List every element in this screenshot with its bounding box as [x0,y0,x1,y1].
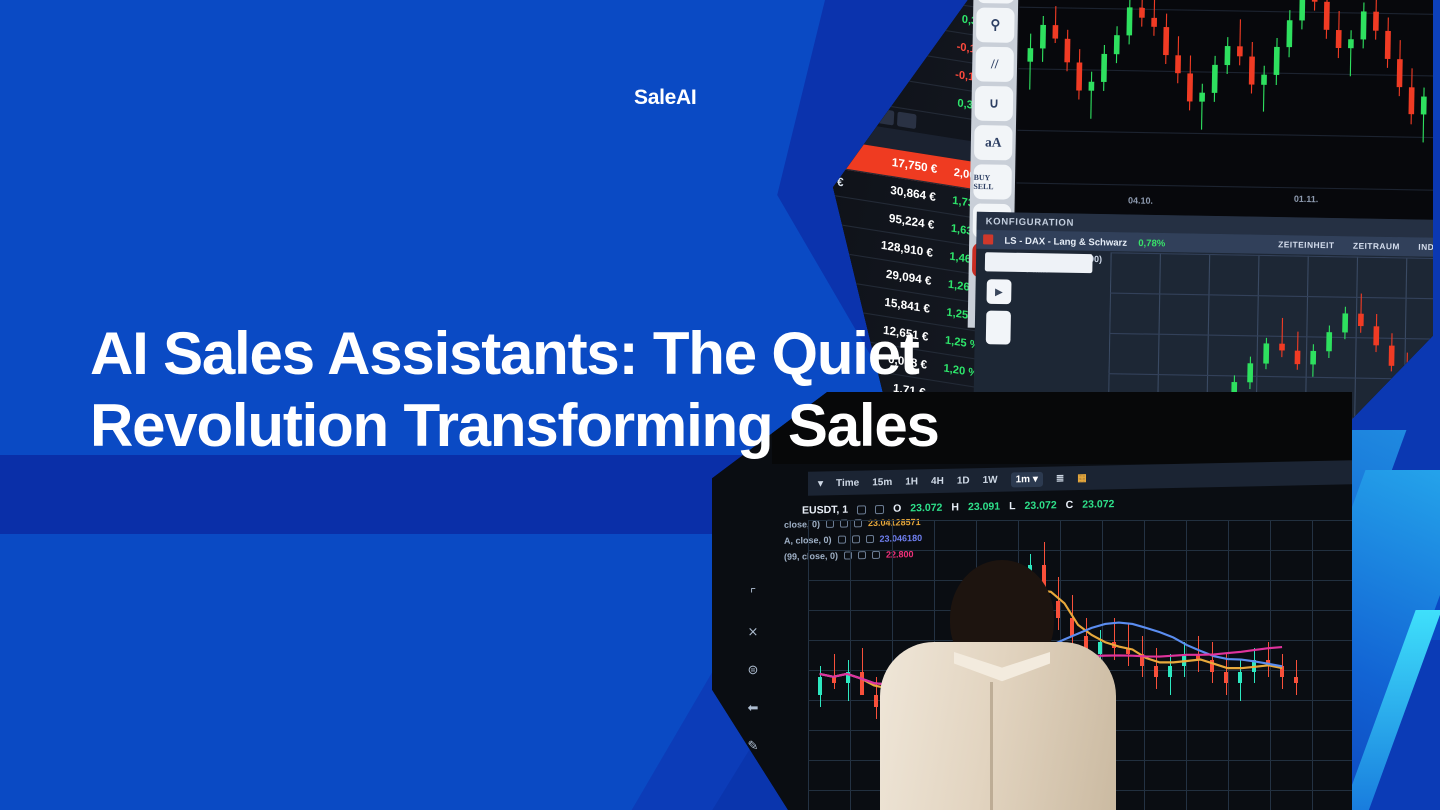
config-dropdowns[interactable]: ZEITEINHEIT ZEITRAUM INDIKATOR SCANS [1262,239,1433,254]
candlestick [1212,56,1218,102]
page-title: AI Sales Assistants: The Quiet Revolutio… [90,318,1070,462]
candlestick [1336,11,1342,57]
price-value: 95,224 € [865,208,935,232]
candlestick [1139,0,1145,27]
tf-15m[interactable]: 15m [872,476,892,487]
low-label: L [1009,500,1015,512]
candlestick [1076,49,1082,100]
candlestick [1373,313,1379,352]
candlestick [1064,30,1070,72]
dropdown-zeitraum[interactable]: ZEITRAUM [1353,241,1400,252]
candlestick [1326,325,1332,357]
candlestick [1373,0,1379,40]
tf-1d[interactable]: 1D [957,475,970,486]
open-value: 23.072 [910,502,942,515]
candlestick [1279,318,1285,357]
settings-icon[interactable]: ≣ [1056,473,1064,484]
candlestick [1263,337,1269,369]
tf-selected[interactable]: 1m ▾ [1011,471,1043,487]
instrument-label: LS - DAX - Lang & Schwarz [1004,234,1127,247]
play-button[interactable]: ▶ [986,279,1011,304]
tf-1w[interactable]: 1W [983,474,998,485]
settings-small-icon[interactable] [875,504,884,513]
buy-sell-button[interactable]: BUY SELL [973,164,1012,199]
price-value: 17,750 € [868,152,938,176]
top-chart-tick-2: 01.11. [1294,194,1319,205]
tf-time[interactable]: Time [836,477,859,488]
candlestick [1286,11,1292,57]
close-label: C [1066,499,1074,511]
candlestick [1175,36,1181,82]
parallel-lines-icon[interactable]: // [975,47,1014,82]
candlestick [1114,26,1120,63]
arrow-icon[interactable]: ⬅ [748,700,759,716]
high-label: H [951,501,959,513]
candlestick [1358,294,1364,333]
candlestick [1312,0,1318,11]
curve-icon[interactable]: ∪ [975,86,1014,121]
candlestick [1342,306,1348,338]
candlestick [1151,0,1157,36]
candlestick [1052,7,1058,44]
candlestick [1249,42,1255,93]
search-icon[interactable]: ⚲ [976,7,1015,42]
candlestick [1385,17,1391,68]
open-label: O [893,503,901,515]
candlestick [1360,3,1366,49]
price-value: 30,864 € [866,180,936,204]
candlestick [1040,16,1046,62]
tf-4h[interactable]: 4H [931,475,944,486]
top-candlestick-chart: 04.10. 01.11. 01.12. [1016,0,1433,222]
candlestick [1261,66,1267,112]
candlestick [1126,0,1132,45]
candlestick [1294,331,1300,370]
chevron-down-icon[interactable]: ▾ [818,478,823,489]
price-value: 15,841 € [861,292,931,316]
candlestick [1199,83,1205,129]
price-value: 128,910 € [864,236,934,260]
candlestick [1310,345,1316,377]
candlestick [1088,72,1094,118]
low-value: 23.072 [1025,499,1057,512]
candlestick [1224,37,1230,74]
drawing-icon[interactable]: ⨯ [748,624,759,640]
candlestick [1027,34,1034,90]
trader-person [862,532,1122,810]
fib-icon[interactable]: ⊜ [748,662,759,678]
percent-icon[interactable]: % [977,0,1016,4]
dropdown-zeiteinheit[interactable]: ZEITEINHEIT [1278,239,1334,250]
eye-icon[interactable] [857,505,866,514]
close-value: 23.072 [1082,498,1114,511]
candlestick [1187,55,1194,111]
instrument-change: 0,78% [1138,236,1165,248]
crosshair-icon[interactable]: ⌜ [750,586,756,602]
candlestick [1101,44,1107,90]
candlestick [1389,333,1395,372]
candlestick [1299,0,1305,29]
high-value: 23.091 [968,500,1000,513]
candlestick [1273,38,1279,84]
dropdown-indikator[interactable]: INDIKATOR [1418,242,1433,253]
candlestick [1163,13,1169,64]
brand-logo[interactable]: SaleAI [634,86,696,110]
candlestick [1324,0,1331,39]
symbol-label: EUSDT, 1 [802,504,848,517]
top-chart-tick-1: 04.10. [1128,196,1153,207]
candlestick [1237,19,1243,65]
candlestick [1420,87,1427,143]
tradingview-timeframe-toolbar[interactable]: ▾ Time 15m 1H 4H 1D 1W 1m ▾ ≣ ▦ [808,460,1352,495]
poster-canvas: 04.10. 01.11. 01.12. 2,3 %0,33 %-0,17 %,… [0,0,1440,810]
config-search-input[interactable] [985,252,1093,273]
candlestick [1408,68,1415,124]
layout-icon[interactable]: ▦ [1077,472,1086,483]
price-value: 29,094 € [862,264,932,288]
candlestick [1247,356,1253,388]
record-icon [983,234,993,244]
person-shirt-seam [990,682,993,810]
candlestick [1348,30,1354,76]
candlestick [1396,40,1403,96]
text-size-icon[interactable]: aA [974,125,1013,160]
tf-1h[interactable]: 1H [905,476,918,487]
